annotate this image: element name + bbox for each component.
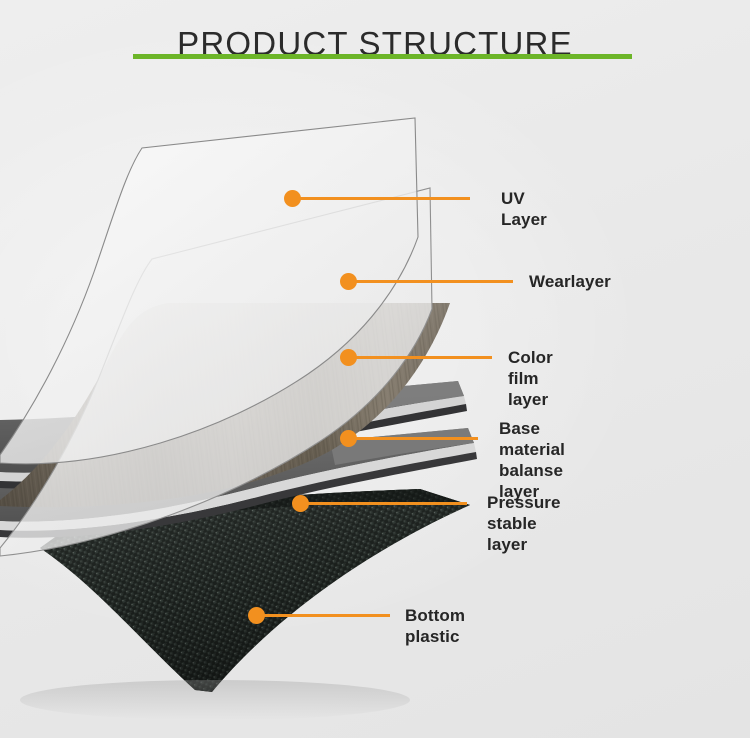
callout-dot-base-material[interactable] [340, 430, 357, 447]
title-underline-rule [133, 54, 632, 59]
product-structure-infographic: PRODUCT STRUCTURE UV Layer Wearlayer Col… [0, 0, 750, 738]
callout-dot-wearlayer[interactable] [340, 273, 357, 290]
callout-label-color-film-layer: Color film layer [508, 347, 553, 410]
callout-line-uv-layer [292, 197, 470, 200]
callout-label-pressure-stable: Pressure stable layer [487, 492, 561, 555]
callout-line-color-film-layer [348, 356, 492, 359]
callout-label-wearlayer: Wearlayer [529, 271, 611, 292]
callout-line-base-material [348, 437, 478, 440]
callout-line-bottom-plastic [256, 614, 390, 617]
callout-dot-pressure-stable[interactable] [292, 495, 309, 512]
callout-dot-bottom-plastic[interactable] [248, 607, 265, 624]
callout-label-base-material: Base material balanse layer [499, 418, 565, 502]
callout-line-wearlayer [348, 280, 513, 283]
stack-shadow [20, 680, 410, 720]
callout-line-pressure-stable [300, 502, 467, 505]
layer-stack-illustration [0, 0, 750, 738]
callout-label-bottom-plastic: Bottom plastic [405, 605, 465, 647]
callout-dot-color-film-layer[interactable] [340, 349, 357, 366]
callout-label-uv-layer: UV Layer [501, 188, 547, 230]
callout-dot-uv-layer[interactable] [284, 190, 301, 207]
